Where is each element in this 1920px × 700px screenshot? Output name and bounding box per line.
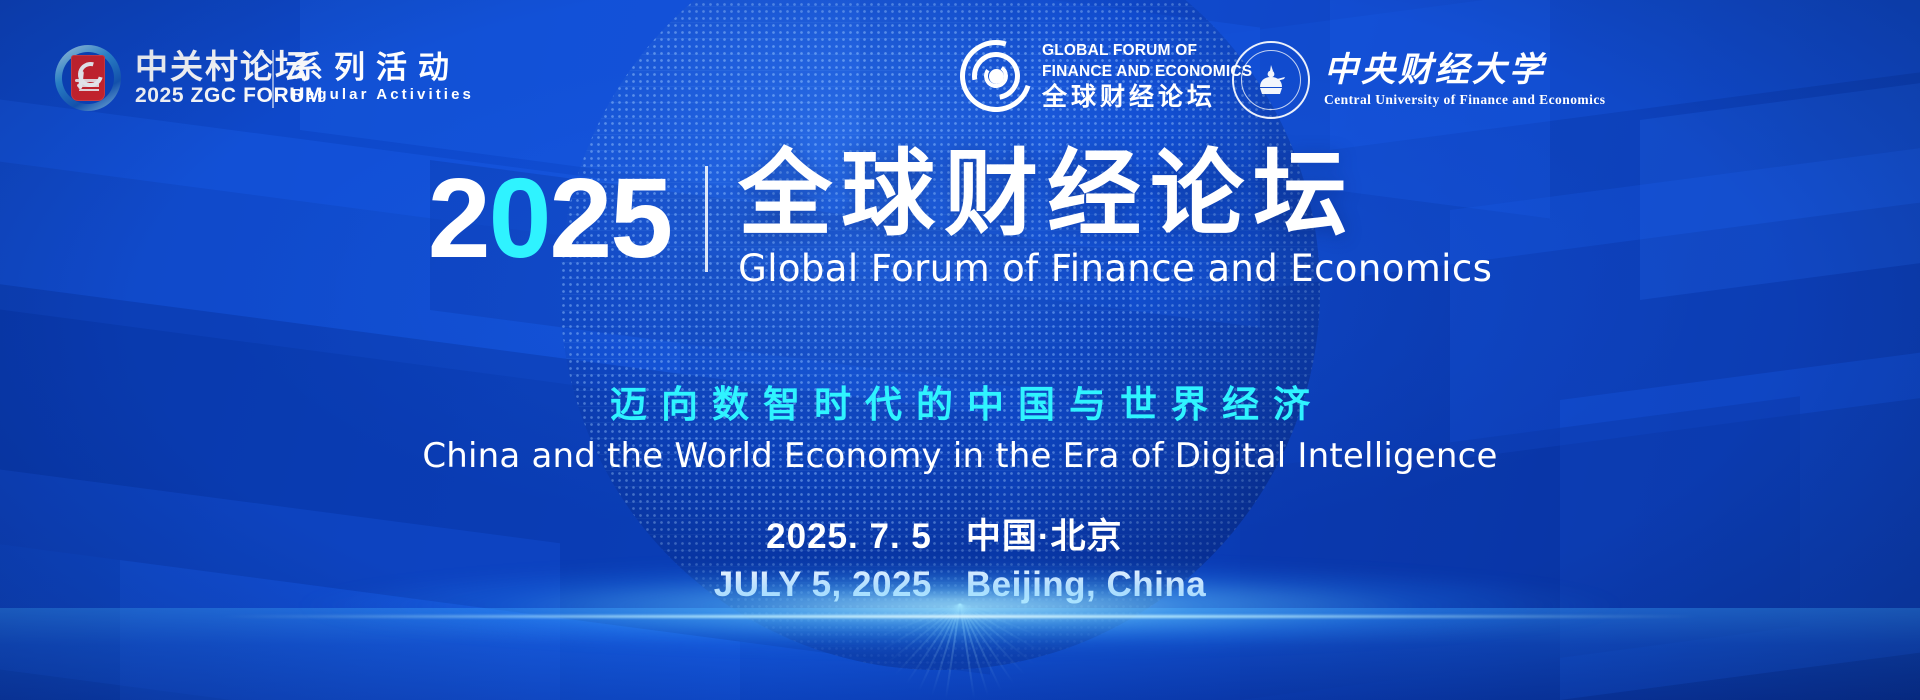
corner-vignette	[0, 0, 1920, 700]
conference-banner: 中关村论坛 2025 ZGC FORUM 系列活动 Regular Activi…	[0, 0, 1920, 700]
